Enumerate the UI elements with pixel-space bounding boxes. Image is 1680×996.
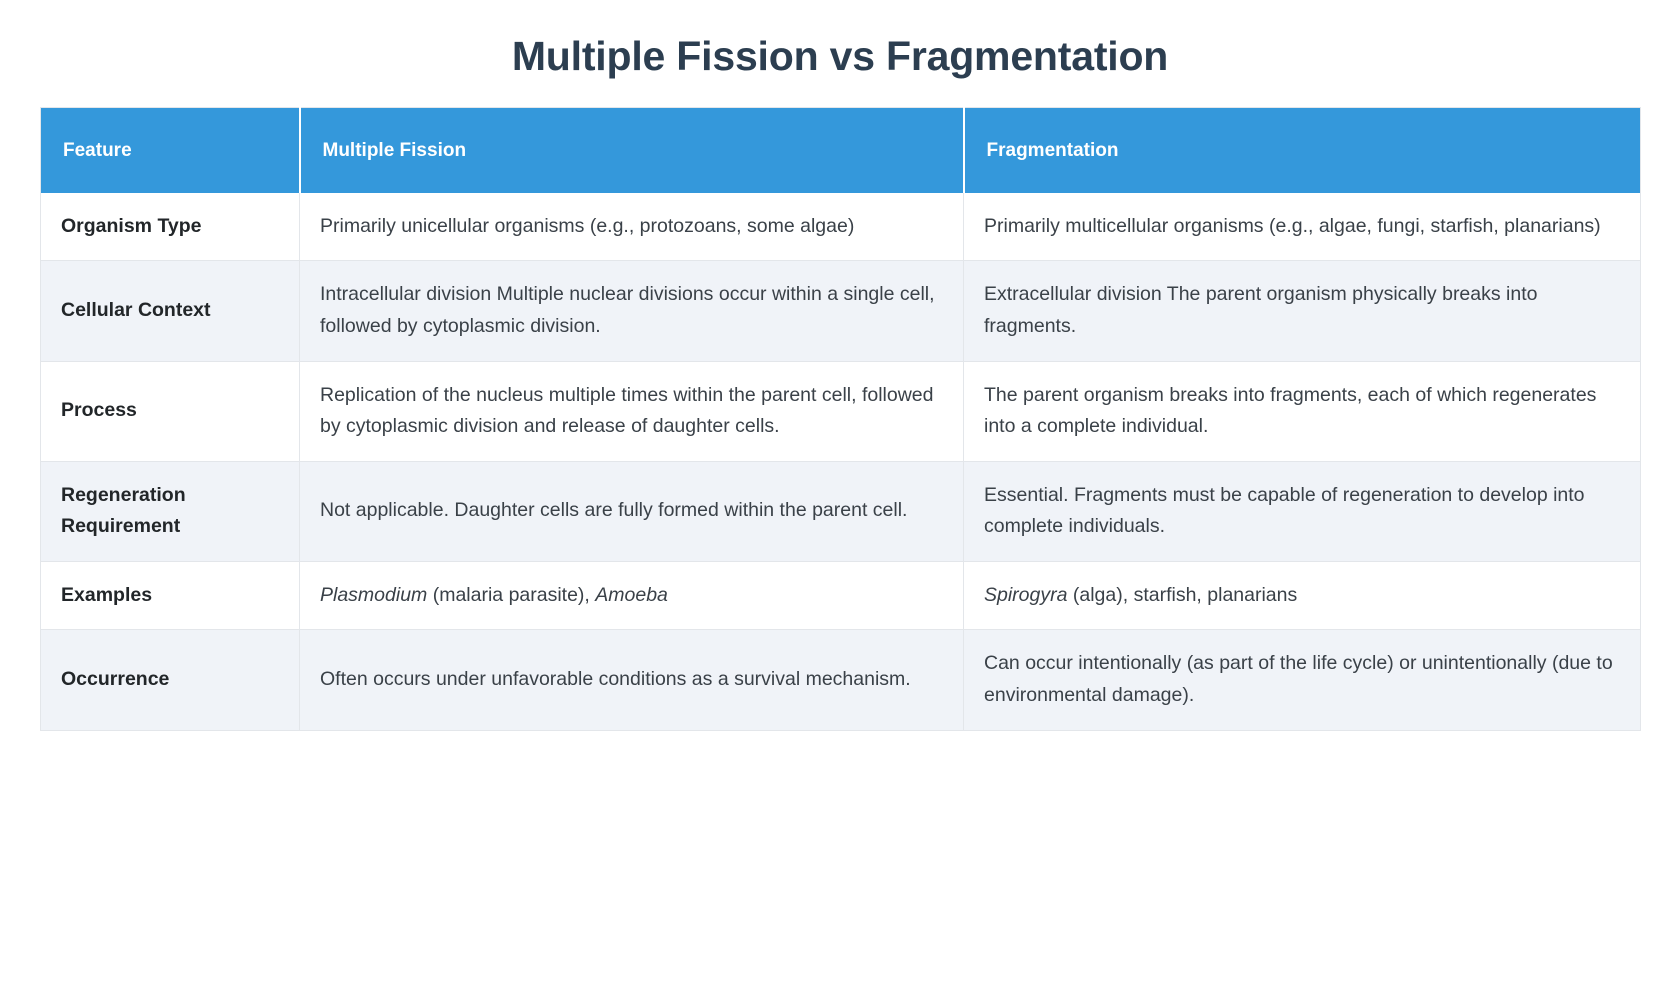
cell-feature: Process xyxy=(41,361,300,461)
cell-multiple-fission: Not applicable. Daughter cells are fully… xyxy=(300,461,964,561)
table-header: Feature Multiple Fission Fragmentation xyxy=(41,108,1641,193)
cell-fragmentation: Essential. Fragments must be capable of … xyxy=(964,461,1641,561)
cell-text-segment: (alga), starfish, planarians xyxy=(1067,584,1297,606)
cell-text-segment: (malaria parasite), xyxy=(427,584,595,606)
cell-feature: Regeneration Requirement xyxy=(41,461,300,561)
cell-fragmentation: Primarily multicellular organisms (e.g.,… xyxy=(964,193,1641,261)
cell-multiple-fission: Often occurs under unfavorable condition… xyxy=(300,630,964,730)
page-title: Multiple Fission vs Fragmentation xyxy=(0,0,1680,83)
column-header-fragmentation: Fragmentation xyxy=(964,108,1641,193)
column-header-feature: Feature xyxy=(41,108,300,193)
cell-multiple-fission: Intracellular division Multiple nuclear … xyxy=(300,261,964,361)
cell-multiple-fission: Primarily unicellular organisms (e.g., p… xyxy=(300,193,964,261)
table-row: Cellular ContextIntracellular division M… xyxy=(41,261,1641,361)
table-row: ProcessReplication of the nucleus multip… xyxy=(41,361,1641,461)
table-row: Regeneration RequirementNot applicable. … xyxy=(41,461,1641,561)
comparison-table: Feature Multiple Fission Fragmentation O… xyxy=(40,107,1641,730)
cell-fragmentation: Extracellular division The parent organi… xyxy=(964,261,1641,361)
table-row: ExamplesPlasmodium (malaria parasite), A… xyxy=(41,561,1641,630)
table-body: Organism TypePrimarily unicellular organ… xyxy=(41,193,1641,730)
cell-fragmentation: The parent organism breaks into fragment… xyxy=(964,361,1641,461)
cell-feature: Occurrence xyxy=(41,630,300,730)
scientific-name: Amoeba xyxy=(595,584,668,606)
cell-fragmentation: Spirogyra (alga), starfish, planarians xyxy=(964,561,1641,630)
table-row: Organism TypePrimarily unicellular organ… xyxy=(41,193,1641,261)
column-header-multiple-fission: Multiple Fission xyxy=(300,108,964,193)
table-header-row: Feature Multiple Fission Fragmentation xyxy=(41,108,1641,193)
page-root: Multiple Fission vs Fragmentation Featur… xyxy=(0,0,1680,996)
cell-feature: Examples xyxy=(41,561,300,630)
scientific-name: Plasmodium xyxy=(320,584,427,606)
cell-feature: Organism Type xyxy=(41,193,300,261)
cell-multiple-fission: Plasmodium (malaria parasite), Amoeba xyxy=(300,561,964,630)
scientific-name: Spirogyra xyxy=(984,584,1067,606)
cell-fragmentation: Can occur intentionally (as part of the … xyxy=(964,630,1641,730)
cell-multiple-fission: Replication of the nucleus multiple time… xyxy=(300,361,964,461)
table-row: OccurrenceOften occurs under unfavorable… xyxy=(41,630,1641,730)
cell-feature: Cellular Context xyxy=(41,261,300,361)
comparison-table-container: Feature Multiple Fission Fragmentation O… xyxy=(40,107,1640,730)
